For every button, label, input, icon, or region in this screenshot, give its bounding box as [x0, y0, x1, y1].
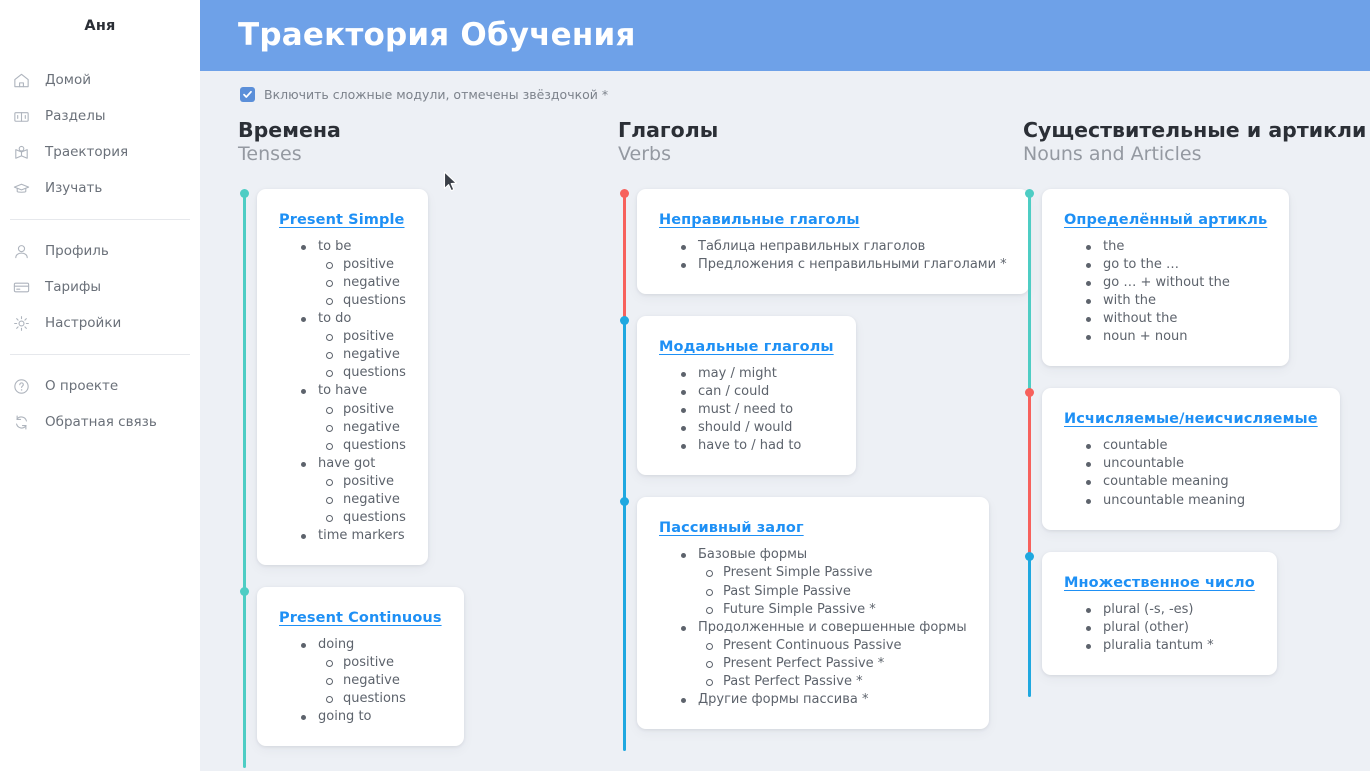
module-subtopic[interactable]: Future Simple Passive * — [706, 601, 967, 619]
module-subtopic[interactable]: Past Perfect Passive * — [706, 673, 967, 691]
module-topic[interactable]: Продолженные и совершенные формы — [681, 619, 967, 637]
module-subtopic-label: Past Simple Passive — [723, 584, 851, 599]
module-subtopic-list: Present Simple PassivePast Simple Passiv… — [681, 564, 967, 618]
module-topic-label: without the — [1103, 311, 1177, 326]
module-topic-label: with the — [1103, 293, 1156, 308]
sidebar-item-label: Тарифы — [45, 279, 101, 295]
book-icon — [12, 107, 31, 126]
module-topic-label: plural (-s, -es) — [1103, 602, 1194, 617]
advanced-modules-checkbox[interactable]: Включить сложные модули, отмечены звёздо… — [240, 87, 608, 102]
module-topic-list: doingpositivenegativequestionsgoing to — [279, 636, 442, 726]
module-subtopic-label: negative — [343, 673, 400, 688]
module-subtopic-list: positivenegativequestions — [301, 654, 442, 708]
module-card: Неправильные глаголыТаблица неправильных… — [637, 189, 1029, 294]
module-subtopic-label: Present Continuous Passive — [723, 638, 902, 653]
module-subtopic[interactable]: negative — [326, 274, 406, 292]
module-card-title-link[interactable]: Present Simple — [279, 212, 405, 228]
module-topic[interactable]: Базовые формы — [681, 546, 967, 564]
module-card-title-link[interactable]: Модальные глаголы — [659, 339, 834, 355]
app-root: Аня ДомойРазделыТраекторияИзучатьПрофиль… — [0, 0, 1370, 771]
timeline-line — [243, 591, 246, 768]
advanced-modules-label: Включить сложные модули, отмечены звёздо… — [264, 87, 608, 102]
module-subtopic[interactable]: positive — [326, 256, 406, 274]
module-subtopic-label: negative — [343, 492, 400, 507]
module-topic-label: doing — [318, 637, 354, 652]
module-topic-label: can / could — [698, 384, 769, 399]
module-subtopic[interactable]: questions — [326, 364, 406, 382]
sidebar-item-label: Настройки — [45, 315, 121, 331]
module-topic[interactable]: must / need to — [681, 401, 834, 419]
timeline-line — [1028, 193, 1031, 410]
module-topic-label: time markers — [318, 528, 405, 543]
module-subtopic-label: Past Perfect Passive * — [723, 674, 863, 689]
module-topic[interactable]: have got — [301, 455, 406, 473]
timeline-rail — [238, 189, 251, 587]
sidebar-user-name: Аня — [0, 10, 200, 34]
sidebar-item-о-проекте[interactable]: О проекте — [0, 368, 200, 404]
module-subtopic-list: positivenegativequestions — [301, 401, 406, 455]
sidebar-item-домой[interactable]: Домой — [0, 62, 200, 98]
module-topic-label: Таблица неправильных глаголов — [698, 239, 925, 254]
timeline-entry: Определённый артикльthego to the …go … +… — [1023, 189, 1370, 388]
module-subtopic-label: questions — [343, 691, 406, 706]
user-icon — [12, 242, 31, 261]
module-subtopic-label: negative — [343, 420, 400, 435]
module-subtopic[interactable]: questions — [326, 292, 406, 310]
timeline: Определённый артикльthego to the …go … +… — [1023, 189, 1370, 697]
timeline-entry: Исчисляемые/неисчисляемыеcountableuncoun… — [1023, 388, 1370, 551]
timeline-line — [1028, 556, 1031, 697]
timeline-rail — [618, 497, 631, 751]
sidebar-divider — [10, 354, 190, 355]
module-subtopic-label: questions — [343, 293, 406, 308]
module-topic[interactable]: uncountable meaning — [1086, 492, 1318, 510]
module-subtopic-label: questions — [343, 510, 406, 525]
module-topic-list: plural (-s, -es)plural (other)pluralia t… — [1064, 601, 1255, 655]
module-topic-label: plural (other) — [1103, 620, 1189, 635]
sidebar-item-label: Изучать — [45, 180, 102, 196]
module-topic-label: noun + noun — [1103, 329, 1188, 344]
check-icon — [242, 89, 253, 100]
module-subtopic[interactable]: Past Simple Passive — [706, 583, 967, 601]
module-card-title-link[interactable]: Определённый артикль — [1064, 212, 1267, 228]
module-topic-label: uncountable — [1103, 456, 1184, 471]
module-topic-label: countable meaning — [1103, 474, 1229, 489]
module-subtopic-list: positivenegativequestions — [301, 473, 406, 527]
trajectory-column: ГлаголыVerbsНеправильные глаголыТаблица … — [610, 118, 1015, 771]
module-subtopic[interactable]: negative — [326, 491, 406, 509]
timeline-rail — [238, 587, 251, 768]
module-topic-label: have to / had to — [698, 438, 801, 453]
module-topic-label: uncountable meaning — [1103, 493, 1245, 508]
module-subtopic[interactable]: positive — [326, 328, 406, 346]
module-topic-label: may / might — [698, 366, 777, 381]
timeline-line — [623, 320, 626, 519]
module-card-title-link[interactable]: Present Continuous — [279, 610, 442, 626]
trajectory-columns: ВременаTensesPresent Simpleto bepositive… — [200, 118, 1370, 771]
module-topic-label: to do — [318, 311, 351, 326]
module-subtopic[interactable]: questions — [326, 437, 406, 455]
module-topic-label: go to the … — [1103, 257, 1179, 272]
column-title-en: Verbs — [618, 143, 1015, 167]
module-topic[interactable]: Другие формы пассива * — [681, 691, 967, 709]
gear-icon — [12, 314, 31, 333]
module-topic[interactable]: noun + noun — [1086, 328, 1267, 346]
module-topic[interactable]: countable meaning — [1086, 473, 1318, 491]
timeline-entry: Present Simpleto bepositivenegativequest… — [238, 189, 610, 587]
timeline: Неправильные глаголыТаблица неправильных… — [618, 189, 1015, 751]
module-card: Модальные глаголыmay / mightcan / couldm… — [637, 316, 856, 475]
map-icon — [12, 143, 31, 162]
sidebar-item-траектория[interactable]: Траектория — [0, 134, 200, 170]
module-topic-list: countableuncountablecountable meaningunc… — [1064, 437, 1318, 509]
module-card: Исчисляемые/неисчисляемыеcountableuncoun… — [1042, 388, 1340, 529]
trajectory-column: ВременаTensesPresent Simpleto bepositive… — [200, 118, 610, 771]
sidebar-group: ПрофильТарифыНастройки — [0, 233, 200, 341]
module-topic[interactable]: should / would — [681, 419, 834, 437]
module-subtopic-label: Present Simple Passive — [723, 565, 873, 580]
module-card: Present Continuousdoingpositivenegativeq… — [257, 587, 464, 746]
module-topic[interactable]: can / could — [681, 383, 834, 401]
sidebar-item-настройки[interactable]: Настройки — [0, 305, 200, 341]
module-subtopic-label: positive — [343, 474, 394, 489]
module-topic-label: the — [1103, 239, 1124, 254]
module-topic-label: to be — [318, 239, 351, 254]
module-topic-list: Таблица неправильных глаголовПредложения… — [659, 238, 1007, 274]
module-topic-label: going to — [318, 709, 372, 724]
page-header: Траектория Обучения — [200, 0, 1370, 71]
page-title: Траектория Обучения — [238, 20, 636, 51]
module-topic[interactable]: Предложения с неправильными глаголами * — [681, 256, 1007, 274]
module-subtopic[interactable]: positive — [326, 473, 406, 491]
module-topic-label: Продолженные и совершенные формы — [698, 620, 967, 635]
timeline-entry: Неправильные глаголыТаблица неправильных… — [618, 189, 1015, 316]
module-topic[interactable]: with the — [1086, 292, 1267, 310]
module-card: Пассивный залогБазовые формыPresent Simp… — [637, 497, 989, 729]
module-subtopic[interactable]: Present Continuous Passive — [706, 637, 967, 655]
refresh-icon — [12, 413, 31, 432]
module-topic[interactable]: uncountable — [1086, 455, 1318, 473]
module-topic-label: should / would — [698, 420, 792, 435]
module-subtopic-label: questions — [343, 365, 406, 380]
module-topic[interactable]: go … + without the — [1086, 274, 1267, 292]
timeline-line — [623, 501, 626, 751]
module-subtopic-list: positivenegativequestions — [301, 328, 406, 382]
module-topic[interactable]: time markers — [301, 527, 406, 545]
module-card-title-link[interactable]: Пассивный залог — [659, 520, 804, 536]
sidebar-item-label: Профиль — [45, 243, 109, 259]
module-card-title-link[interactable]: Исчисляемые/неисчисляемые — [1064, 411, 1318, 427]
sidebar: Аня ДомойРазделыТраекторияИзучатьПрофиль… — [0, 0, 200, 771]
module-topic[interactable]: to have — [301, 382, 406, 400]
sidebar-item-обратная-связь[interactable]: Обратная связь — [0, 404, 200, 440]
module-subtopic[interactable]: Present Perfect Passive * — [706, 655, 967, 673]
sidebar-item-label: Разделы — [45, 108, 106, 124]
module-subtopic-label: negative — [343, 275, 400, 290]
module-topic[interactable]: plural (other) — [1086, 619, 1255, 637]
module-topic[interactable]: may / might — [681, 365, 834, 383]
module-topic[interactable]: doing — [301, 636, 442, 654]
question-circle-icon — [12, 377, 31, 396]
checkbox-box[interactable] — [240, 87, 255, 102]
timeline-entry: Множественное числоplural (-s, -es)plura… — [1023, 552, 1370, 697]
sidebar-item-label: Домой — [45, 72, 91, 88]
module-topic[interactable]: the — [1086, 238, 1267, 256]
column-title-ru: Времена — [238, 118, 610, 142]
sidebar-group: ДомойРазделыТраекторияИзучать — [0, 62, 200, 206]
module-card-title-link[interactable]: Множественное число — [1064, 575, 1255, 591]
sidebar-item-изучать[interactable]: Изучать — [0, 170, 200, 206]
module-topic[interactable]: Таблица неправильных глаголов — [681, 238, 1007, 256]
module-subtopic-list: Present Continuous PassivePresent Perfec… — [681, 637, 967, 691]
module-subtopic[interactable]: questions — [326, 690, 442, 708]
timeline-rail — [618, 189, 631, 316]
module-subtopic-label: positive — [343, 257, 394, 272]
module-card: Определённый артикльthego to the …go … +… — [1042, 189, 1289, 366]
module-topic-label: have got — [318, 456, 375, 471]
sidebar-item-label: О проекте — [45, 378, 118, 394]
column-title-ru: Существительные и артикли — [1023, 118, 1370, 142]
timeline-entry: Модальные глаголыmay / mightcan / couldm… — [618, 316, 1015, 497]
sidebar-item-label: Обратная связь — [45, 414, 157, 430]
module-subtopic-label: Future Simple Passive * — [723, 602, 876, 617]
module-subtopic[interactable]: negative — [326, 672, 442, 690]
module-topic-list: to bepositivenegativequestionsto doposit… — [279, 238, 406, 545]
module-subtopic-label: Present Perfect Passive * — [723, 656, 884, 671]
module-subtopic[interactable]: negative — [326, 419, 406, 437]
sidebar-item-разделы[interactable]: Разделы — [0, 98, 200, 134]
module-topic-list: Базовые формыPresent Simple PassivePast … — [659, 546, 967, 709]
timeline-line — [1028, 392, 1031, 573]
module-card-title-link[interactable]: Неправильные глаголы — [659, 212, 860, 228]
module-topic-label: Базовые формы — [698, 547, 807, 562]
module-topic-label: to have — [318, 383, 367, 398]
column-title-en: Nouns and Articles — [1023, 143, 1370, 167]
module-topic-list: thego to the …go … + without thewith the… — [1064, 238, 1267, 346]
module-topic-label: Другие формы пассива * — [698, 692, 869, 707]
module-topic-label: go … + without the — [1103, 275, 1230, 290]
timeline-rail — [618, 316, 631, 497]
module-topic[interactable]: have to / had to — [681, 437, 834, 455]
sidebar-nav: ДомойРазделыТраекторияИзучатьПрофильТари… — [0, 62, 200, 440]
module-topic[interactable]: to be — [301, 238, 406, 256]
graduation-cap-icon — [12, 179, 31, 198]
module-subtopic-list: positivenegativequestions — [301, 256, 406, 310]
module-subtopic[interactable]: Present Simple Passive — [706, 564, 967, 582]
module-topic[interactable]: countable — [1086, 437, 1318, 455]
column-title-en: Tenses — [238, 143, 610, 167]
module-subtopic-label: questions — [343, 438, 406, 453]
sidebar-item-тарифы[interactable]: Тарифы — [0, 269, 200, 305]
credit-card-icon — [12, 278, 31, 297]
trajectory-column: Существительные и артиклиNouns and Artic… — [1015, 118, 1370, 771]
module-topic-label: Предложения с неправильными глаголами * — [698, 257, 1007, 272]
sidebar-divider — [10, 219, 190, 220]
timeline-entry: Present Continuousdoingpositivenegativeq… — [238, 587, 610, 768]
module-subtopic-label: positive — [343, 402, 394, 417]
module-subtopic[interactable]: positive — [326, 654, 442, 672]
module-subtopic[interactable]: negative — [326, 346, 406, 364]
column-title-ru: Глаголы — [618, 118, 1015, 142]
sidebar-group: О проектеОбратная связь — [0, 368, 200, 440]
timeline: Present Simpleto bepositivenegativequest… — [238, 189, 610, 768]
timeline-line — [243, 193, 246, 609]
module-topic[interactable]: go to the … — [1086, 256, 1267, 274]
module-subtopic[interactable]: questions — [326, 509, 406, 527]
module-topic-label: countable — [1103, 438, 1168, 453]
module-subtopic-label: positive — [343, 329, 394, 344]
module-topic-label: pluralia tantum * — [1103, 638, 1214, 653]
module-subtopic-label: positive — [343, 655, 394, 670]
filter-bar: Включить сложные модули, отмечены звёздо… — [200, 71, 1370, 118]
timeline-rail — [1023, 189, 1036, 388]
module-card: Present Simpleto bepositivenegativequest… — [257, 189, 428, 565]
module-topic-label: must / need to — [698, 402, 793, 417]
module-topic[interactable]: going to — [301, 708, 442, 726]
main-content: Траектория Обучения Включить сложные мод… — [200, 0, 1370, 771]
timeline-rail — [1023, 388, 1036, 551]
module-topic[interactable]: without the — [1086, 310, 1267, 328]
module-subtopic[interactable]: positive — [326, 401, 406, 419]
module-subtopic-label: negative — [343, 347, 400, 362]
sidebar-item-label: Траектория — [45, 144, 128, 160]
home-icon — [12, 71, 31, 90]
module-topic[interactable]: plural (-s, -es) — [1086, 601, 1255, 619]
module-topic[interactable]: to do — [301, 310, 406, 328]
module-card: Множественное числоplural (-s, -es)plura… — [1042, 552, 1277, 675]
module-topic[interactable]: pluralia tantum * — [1086, 637, 1255, 655]
sidebar-item-профиль[interactable]: Профиль — [0, 233, 200, 269]
module-topic-list: may / mightcan / couldmust / need toshou… — [659, 365, 834, 455]
timeline-entry: Пассивный залогБазовые формыPresent Simp… — [618, 497, 1015, 751]
timeline-rail — [1023, 552, 1036, 697]
